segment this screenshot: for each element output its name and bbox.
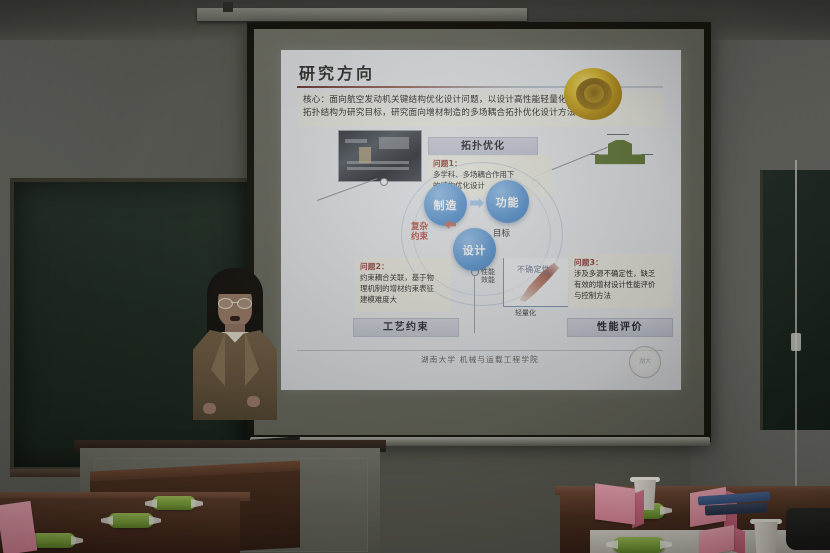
plot-uncertainty-label: 不确定性	[517, 264, 550, 275]
core-statement-line1: 核心：面向航空发动机关键结构优化设计问题，以设计高性能轻量化创新型	[303, 95, 593, 106]
university-seal: 湖大	[629, 346, 661, 378]
manufacturing-photo-thumbnail	[338, 130, 422, 182]
circle-design-label: 设计	[453, 242, 496, 258]
problem2-label: 问题2：	[360, 261, 389, 272]
category-process-constraint: 工艺约束	[353, 318, 459, 337]
problem3-line1: 涉及多源不确定性，缺乏	[574, 269, 655, 279]
name-card	[700, 525, 734, 553]
presentation-slide: 研究方向 核心：面向航空发动机关键结构优化设计问题，以设计高性能轻量化创新型 拓…	[281, 50, 681, 390]
hanging-cable	[795, 160, 797, 490]
complex-constraint-line2: 约束	[411, 232, 428, 242]
presenter-mouth	[230, 316, 240, 321]
circle-function-label: 功能	[486, 194, 529, 210]
problem2-line3: 建模难度大	[360, 295, 397, 305]
classroom-scene: 研究方向 核心：面向航空发动机关键结构优化设计问题，以设计高性能轻量化创新型 拓…	[0, 0, 830, 553]
screen-mount-rail	[197, 8, 527, 21]
problem3-line2: 有效的增材设计性能评价	[574, 280, 655, 290]
problem2-line2: 理机制的增材约束表征	[360, 284, 434, 294]
presenter-hand-right	[247, 396, 260, 407]
plot-y-axis-label: 性能 效能	[481, 268, 495, 285]
presenter-hand-left	[203, 403, 216, 414]
presenter-bangs	[211, 272, 259, 294]
complex-constraint-label: 复杂 约束	[411, 222, 428, 242]
slide-footer: 湖南大学 机械与运载工程学院	[421, 354, 539, 365]
university-seal-label: 湖大	[630, 347, 660, 377]
turbine-disk-model	[564, 64, 626, 122]
connector-node-left	[380, 178, 388, 186]
complex-constraint-line1: 复杂	[411, 222, 428, 232]
plot-y-axis-line1: 性能	[481, 268, 495, 276]
slide-title: 研究方向	[299, 60, 375, 84]
glasses-icon	[218, 298, 252, 307]
circle-manufacturing: 制造	[424, 183, 467, 226]
dark-bag	[786, 508, 830, 550]
problem3-label: 问题3：	[574, 257, 603, 268]
snack-package	[108, 513, 154, 528]
topology-optimization-label: 拓扑优化	[429, 138, 537, 155]
cable-clip	[791, 333, 801, 351]
category-performance-evaluation: 性能评价	[567, 318, 673, 337]
category-performance-evaluation-label: 性能评价	[568, 319, 672, 336]
cad-cross-section-diagram	[581, 130, 659, 178]
circle-design: 设计	[453, 228, 496, 271]
problem3-line3: 与控制方法	[574, 291, 611, 301]
plot-y-axis-line2: 效能	[481, 276, 495, 284]
snack-package	[30, 533, 76, 548]
rail-bracket	[223, 2, 233, 12]
presenter	[185, 268, 285, 448]
snack-package	[152, 496, 196, 510]
circle-function: 功能	[486, 180, 529, 223]
footer-divider	[297, 350, 663, 351]
core-statement-line2: 拓扑结构为研究目标，研究面向增材制造的多场耦合拓扑优化设计方法。	[303, 108, 584, 119]
snack-package	[613, 537, 665, 553]
topology-optimization-header: 拓扑优化	[428, 137, 538, 156]
paper-cup	[752, 522, 780, 553]
objective-label: 目标	[493, 227, 510, 239]
circle-manufacturing-label: 制造	[424, 197, 467, 213]
name-card	[595, 483, 635, 525]
plot-x-axis-label: 轻量化	[515, 308, 536, 318]
category-process-constraint-label: 工艺约束	[354, 319, 458, 336]
